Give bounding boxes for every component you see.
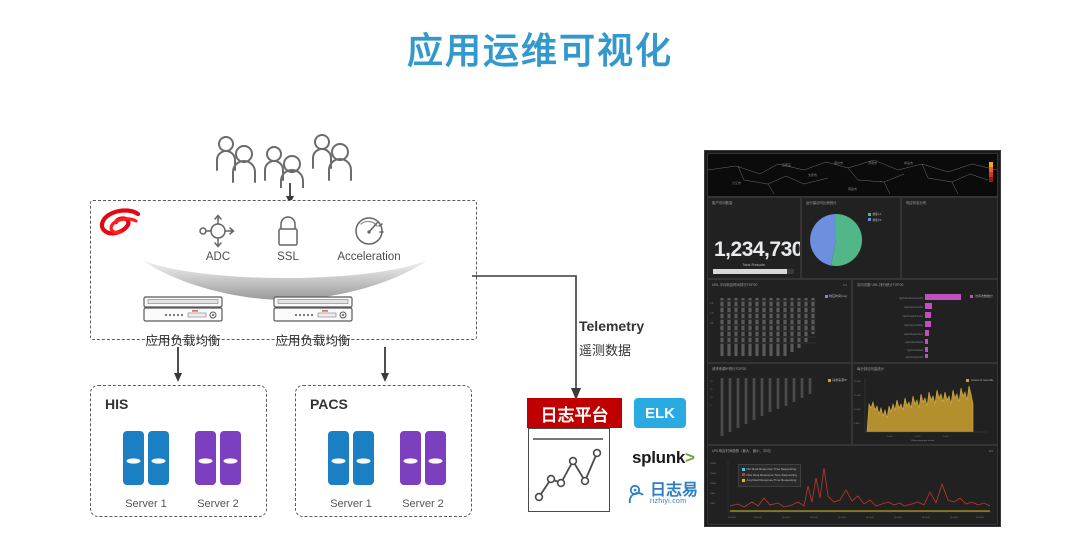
panel-title: 运行量访问比例统计 bbox=[806, 200, 837, 205]
svg-text:14:25:00: 14:25:00 bbox=[922, 517, 931, 519]
legend-item: 响应时间(ms) bbox=[825, 294, 848, 298]
svg-text:/api/v1/user/profile: /api/v1/user/profile bbox=[904, 306, 923, 309]
svg-text:5,000: 5,000 bbox=[854, 423, 860, 425]
telemetry-label-en: Telemetry bbox=[579, 318, 644, 334]
svg-text:0.5: 0.5 bbox=[710, 322, 714, 325]
dashboard-panel-gold-area[interactable]: 每分钟访问量统计 20,00015,000 10,0005,000 14:001… bbox=[852, 363, 998, 445]
service-acceleration: Acceleration bbox=[324, 214, 414, 263]
svg-text:/api/v1/orders/query/list: /api/v1/orders/query/list bbox=[899, 297, 923, 300]
svg-text:5000: 5000 bbox=[710, 493, 716, 495]
panel-title: 客户访问数量 bbox=[712, 200, 732, 205]
dashboard-panel-url-bars[interactable]: URL 平均响应时间排行TOP20 ••• bbox=[707, 279, 852, 363]
rizhiyi-domain: rizhiyi.com bbox=[650, 498, 698, 505]
legend-item: 访问次数统计 bbox=[970, 294, 993, 298]
server-label: Server 2 bbox=[392, 498, 454, 510]
server-rack-icon bbox=[119, 431, 173, 491]
svg-text:/api/v1/login/check: /api/v1/login/check bbox=[904, 334, 924, 336]
dashboard-panel-dark-bars[interactable]: 请求来源IP排行TOP20 2015105 请求来源IP bbox=[707, 363, 852, 445]
svg-text:14:30:00: 14:30:00 bbox=[950, 517, 959, 519]
svg-text:14:15: 14:15 bbox=[915, 436, 921, 438]
pacs-server-2: Server 2 bbox=[392, 431, 454, 510]
radware-swirl-logo bbox=[98, 208, 144, 242]
end-users-group bbox=[214, 132, 354, 188]
panel-title: URL 平均响应时间排行TOP20 bbox=[712, 282, 757, 287]
load-balancer-2: 应用负载均衡 bbox=[258, 296, 368, 349]
his-server-1: Server 1 bbox=[115, 431, 177, 510]
lock-icon bbox=[243, 214, 333, 248]
panel-title: URL响应时间趋势（最大、最小、平均） bbox=[712, 448, 773, 453]
line-chart-card bbox=[528, 428, 610, 512]
svg-text:14:20:00: 14:20:00 bbox=[894, 517, 903, 519]
panel-legend: 响应时间(ms) bbox=[825, 294, 848, 300]
panel-title: 每分钟访问量统计 bbox=[857, 366, 884, 371]
svg-text:13:50:00: 13:50:00 bbox=[754, 517, 763, 519]
telemetry-label-cn: 遥测数据 bbox=[579, 340, 631, 359]
svg-text:15000: 15000 bbox=[710, 473, 717, 475]
svg-text:20: 20 bbox=[710, 381, 713, 383]
dashboard-panel-blank[interactable]: 响应状态分布 bbox=[901, 197, 998, 279]
dashboard-panel-map[interactable]: 九江市石家庄 郑州市济南市 青岛市太原市 南昌市 bbox=[707, 153, 998, 197]
panel-title: 响应状态分布 bbox=[906, 200, 926, 205]
app-group-his: HIS Server 1 Server 2 bbox=[90, 385, 267, 517]
splunk-chevron-icon: > bbox=[685, 448, 695, 467]
app-group-name: HIS bbox=[105, 396, 128, 412]
svg-text:/api/v1/report/daily: /api/v1/report/daily bbox=[904, 324, 924, 327]
svg-text:郑州市: 郑州市 bbox=[834, 160, 843, 165]
server-label: Server 1 bbox=[115, 498, 177, 510]
log-platform-button[interactable]: 日志平台 bbox=[527, 398, 622, 428]
server-label: Server 1 bbox=[320, 498, 382, 510]
server-rack-icon bbox=[191, 431, 245, 491]
load-balancer-1: 应用负载均衡 bbox=[128, 296, 238, 349]
server-label: Server 2 bbox=[187, 498, 249, 510]
pie-legend: 类别 A 类别 B bbox=[868, 212, 881, 223]
svg-text:九江市: 九江市 bbox=[732, 180, 741, 185]
pie-chart bbox=[802, 206, 900, 274]
svg-text:14:05:00: 14:05:00 bbox=[810, 517, 819, 519]
svg-text:1.0: 1.0 bbox=[710, 312, 714, 315]
app-group-name: PACS bbox=[310, 396, 348, 412]
page-title: 应用运维可视化 bbox=[0, 22, 1080, 74]
svg-text:/api/v1/search/index: /api/v1/search/index bbox=[903, 315, 924, 318]
svg-text:10000: 10000 bbox=[710, 483, 717, 485]
legend-item: 类别 A bbox=[868, 212, 881, 216]
metric-value: 1,234,730 bbox=[714, 238, 801, 262]
svg-text:20000: 20000 bbox=[710, 463, 717, 465]
svg-text:10,000: 10,000 bbox=[854, 409, 861, 411]
load-balancer-label: 应用负载均衡 bbox=[258, 330, 368, 349]
slide-canvas: 应用运维可视化 bbox=[0, 0, 1080, 541]
legend-item: 类别 B bbox=[868, 218, 881, 222]
telemetry-connector bbox=[470, 270, 590, 407]
panel-title: 访问次数 URL 排行统计TOP20 bbox=[857, 282, 903, 287]
splunk-logo: splunk> bbox=[632, 448, 695, 468]
svg-text:/api/v1/pay/notify: /api/v1/pay/notify bbox=[906, 356, 924, 359]
panel-title: 请求来源IP排行TOP20 bbox=[712, 366, 746, 371]
line-chart-legend: Min Real Response Time Requesting Max Re… bbox=[738, 464, 801, 487]
svg-text:5: 5 bbox=[710, 405, 712, 407]
svg-text:1.5: 1.5 bbox=[710, 302, 714, 305]
svg-text:14:00:00: 14:00:00 bbox=[782, 517, 791, 519]
legend-item: Avg Real Response Time Requesting bbox=[742, 478, 797, 482]
svg-text:14:00: 14:00 bbox=[887, 436, 893, 438]
panel-legend: 访问次数统计 bbox=[970, 294, 993, 300]
svg-text:青岛市: 青岛市 bbox=[904, 160, 913, 165]
metric-progress-bar bbox=[713, 269, 794, 274]
svg-text:15: 15 bbox=[710, 389, 713, 391]
rizhiyi-wordmark: 日志易 bbox=[650, 482, 698, 498]
arrow-lb-to-his bbox=[171, 347, 185, 388]
svg-text:南昌市: 南昌市 bbox=[848, 186, 857, 191]
rizhiyi-mark-icon bbox=[628, 484, 648, 504]
x-axis-label: @timestamp per minute bbox=[911, 439, 935, 442]
server-appliance-icon bbox=[140, 296, 226, 324]
legend-item: Min Real Response Time Requesting bbox=[742, 467, 797, 471]
gauge-icon bbox=[324, 214, 414, 248]
rizhiyi-logo: 日志易 rizhiyi.com bbox=[628, 482, 698, 505]
svg-text:/api/v1/cart/add: /api/v1/cart/add bbox=[907, 349, 923, 352]
svg-text:14:10:00: 14:10:00 bbox=[838, 517, 847, 519]
dashboard-panel-pie[interactable]: 运行量访问比例统计 类别 A 类别 B bbox=[801, 197, 901, 279]
svg-text:14:15:00: 14:15:00 bbox=[866, 517, 875, 519]
dashboard-panel-total-count[interactable]: 客户访问数量 1,234,730 Total Results bbox=[707, 197, 801, 279]
splunk-wordmark: splunk bbox=[632, 448, 685, 467]
dashboard-panel-response-lines[interactable]: URL响应时间趋势（最大、最小、平均） ••• 2000015000 10000… bbox=[707, 445, 998, 525]
svg-text:10: 10 bbox=[710, 397, 713, 399]
his-server-2: Server 2 bbox=[187, 431, 249, 510]
elk-button[interactable]: ELK bbox=[634, 398, 686, 428]
log-dashboard-screenshot[interactable]: 九江市石家庄 郑州市济南市 青岛市太原市 南昌市 客户访问数量 1,234,73… bbox=[704, 150, 1001, 527]
panel-legend: 请求来源IP bbox=[828, 378, 847, 384]
svg-text:14:30: 14:30 bbox=[943, 436, 949, 438]
server-appliance-icon bbox=[270, 296, 356, 324]
metric-caption: Total Results bbox=[742, 262, 765, 267]
svg-text:太原市: 太原市 bbox=[808, 172, 817, 177]
app-group-pacs: PACS Server 1 Server 2 bbox=[295, 385, 472, 517]
svg-text:15,000: 15,000 bbox=[854, 395, 861, 397]
pacs-server-1: Server 1 bbox=[320, 431, 382, 510]
arrow-lb-to-pacs bbox=[378, 347, 392, 388]
legend-item: Max Real Response Time Requesting bbox=[742, 473, 797, 477]
svg-text:14:40:00: 14:40:00 bbox=[976, 517, 985, 519]
svg-text:13:40:00: 13:40:00 bbox=[728, 517, 737, 519]
server-rack-icon bbox=[396, 431, 450, 491]
svg-text:1000: 1000 bbox=[710, 503, 716, 505]
legend-item: 请求来源IP bbox=[828, 378, 847, 382]
svg-text:20,000: 20,000 bbox=[854, 381, 861, 383]
panel-menu-icon[interactable]: ••• bbox=[843, 282, 847, 287]
panel-legend: Count of records bbox=[966, 378, 993, 384]
server-rack-icon bbox=[324, 431, 378, 491]
svg-text:/api/v1/item/detail: /api/v1/item/detail bbox=[905, 341, 923, 344]
area-chart: 20,00015,000 10,0005,000 14:0014:1514:30… bbox=[853, 374, 997, 442]
panel-menu-icon[interactable]: ••• bbox=[989, 448, 993, 453]
legend-item: Count of records bbox=[966, 378, 993, 382]
service-ssl: SSL bbox=[243, 214, 333, 263]
dashboard-panel-magenta-bars[interactable]: 访问次数 URL 排行统计TOP20 /api/v1/orders/query/… bbox=[852, 279, 998, 363]
svg-text:石家庄: 石家庄 bbox=[782, 162, 791, 167]
svg-text:济南市: 济南市 bbox=[868, 160, 877, 165]
